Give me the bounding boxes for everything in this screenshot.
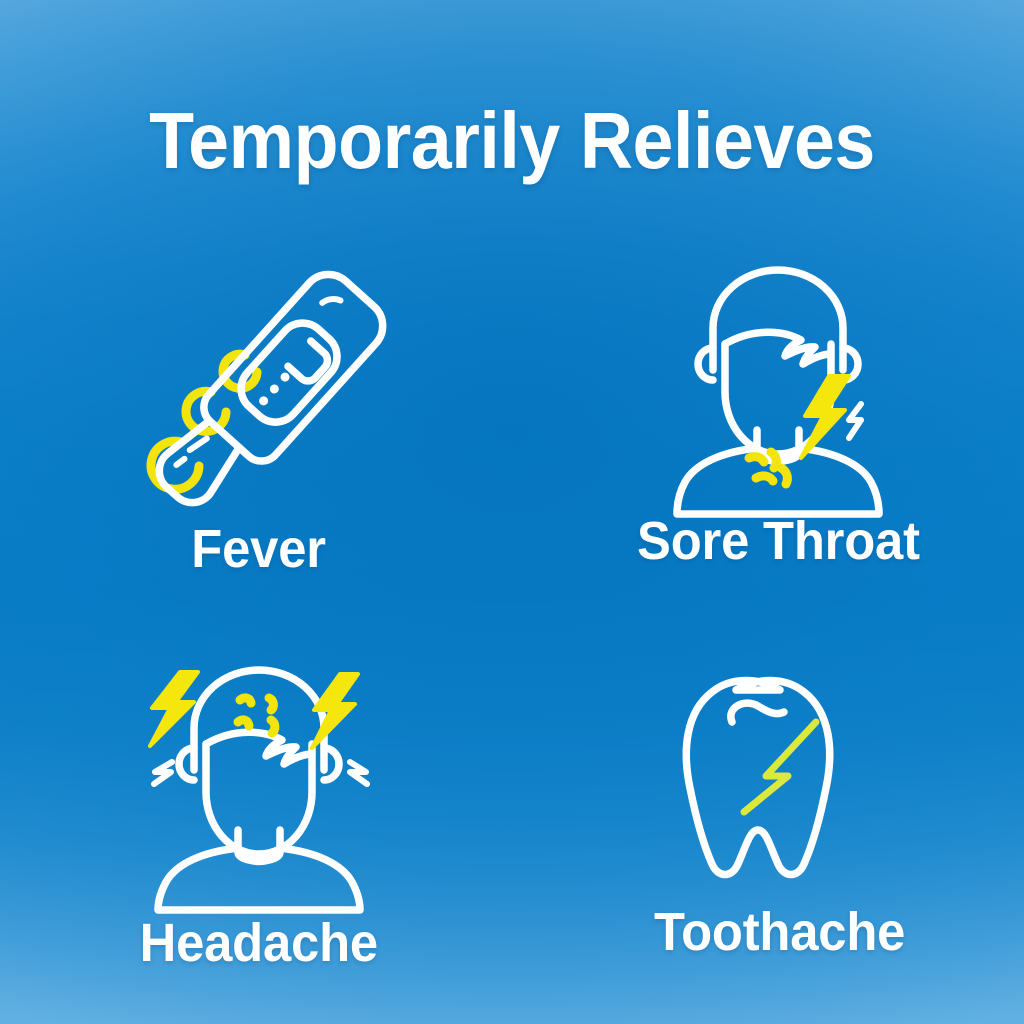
thermometer-icon (129, 266, 389, 506)
page-title: Temporarily Relieves (41, 98, 983, 184)
headache-icon (126, 648, 392, 898)
sore-throat-icon (653, 252, 903, 502)
symptom-label-sore-throat: Sore Throat (637, 512, 920, 570)
symptom-item-fever[interactable]: Fever (0, 246, 512, 626)
forehead-mark-3 (238, 720, 249, 726)
toothache-icon (670, 676, 890, 891)
forehead-mark-1 (240, 698, 251, 703)
symptom-label-toothache: Toothache (654, 903, 905, 961)
symptom-item-headache[interactable]: Headache (0, 626, 512, 1006)
throat-mark-1 (749, 457, 764, 462)
impact-bolt-icon (849, 404, 861, 438)
symptom-item-sore-throat[interactable]: Sore Throat (512, 246, 1024, 626)
impact-bolt-right-icon (350, 762, 367, 784)
pain-bolt-icon (801, 376, 849, 458)
poster-canvas: Temporarily Relieves (0, 0, 1024, 1024)
impact-bolt-left-icon (154, 762, 172, 784)
throat-mark-4 (781, 468, 787, 484)
symptom-label-headache: Headache (140, 914, 378, 972)
symptom-label-fever: Fever (192, 520, 327, 578)
throat-mark-3 (756, 476, 773, 481)
forehead-mark-2 (269, 698, 273, 710)
throat-mark-2 (771, 452, 776, 468)
symptom-grid: Fever (0, 246, 1024, 1006)
pain-bolt-right-icon (312, 674, 358, 748)
symptom-item-toothache[interactable]: Toothache (512, 626, 1024, 1006)
forehead-mark-4 (271, 720, 275, 733)
tooth-pain-bolt-icon (744, 722, 816, 812)
